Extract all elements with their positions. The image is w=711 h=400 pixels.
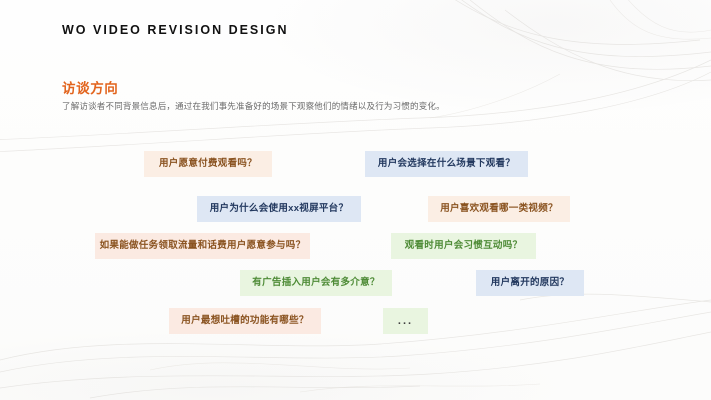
question-card[interactable]: 如果能做任务领取流量和话费用户愿意参与吗？ xyxy=(95,233,310,259)
question-card-group: 用户愿意付费观看吗？用户会选择在什么场景下观看？用户为什么会使用xx视屏平台？用… xyxy=(0,0,711,400)
question-card[interactable]: ... xyxy=(383,308,428,334)
question-card[interactable]: 用户为什么会使用xx视屏平台？ xyxy=(197,196,361,222)
question-card[interactable]: 用户离开的原因？ xyxy=(476,270,584,296)
question-card[interactable]: 用户喜欢观看哪一类视频？ xyxy=(428,196,570,222)
question-card[interactable]: 用户愿意付费观看吗？ xyxy=(144,151,272,177)
slide-canvas: WO VIDEO REVISION DESIGN 访谈方向 了解访谈者不同背景信… xyxy=(0,0,711,400)
question-card[interactable]: 用户最想吐槽的功能有哪些？ xyxy=(169,308,321,334)
question-card[interactable]: 有广告插入用户会有多介意？ xyxy=(240,270,392,296)
question-card[interactable]: 观看时用户会习惯互动吗？ xyxy=(391,233,536,259)
question-card[interactable]: 用户会选择在什么场景下观看？ xyxy=(365,151,528,177)
